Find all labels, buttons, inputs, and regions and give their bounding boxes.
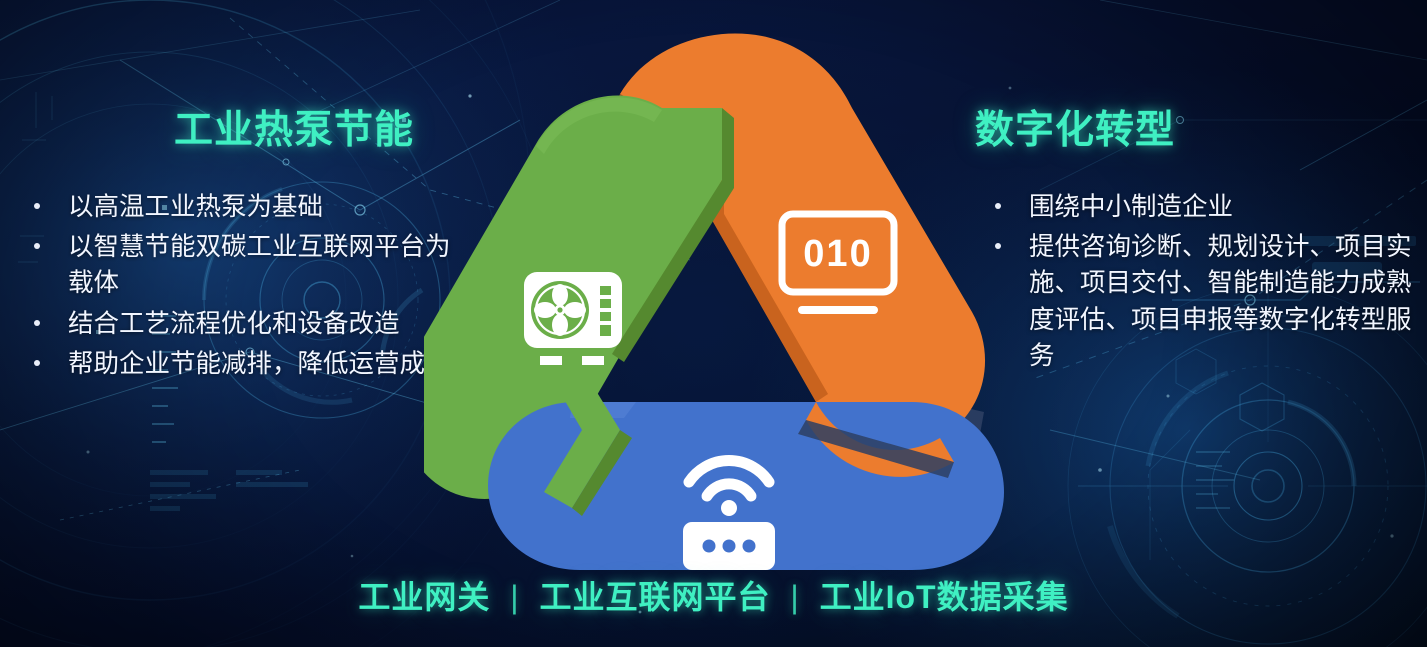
right-bullet-list: 围绕中小制造企业 提供咨询诊断、规划设计、项目实施、项目交付、智能制造能力成熟度…	[975, 189, 1427, 374]
bullet-dot-icon	[34, 243, 40, 249]
caption-separator: |	[500, 579, 529, 615]
triangle-cycle-diagram: 010	[424, 22, 1024, 570]
bullet-dot-icon	[34, 203, 40, 209]
list-item: 以高温工业热泵为基础	[14, 189, 454, 225]
right-content-column: 数字化转型 围绕中小制造企业 提供咨询诊断、规划设计、项目实施、项目交付、智能制…	[975, 110, 1427, 378]
right-column-title: 数字化转型	[975, 110, 1427, 153]
bullet-text: 以高温工业热泵为基础	[68, 193, 323, 221]
caption-part-iot: 工业IoT数据采集	[820, 579, 1069, 615]
bullet-text: 提供咨询诊断、规划设计、项目实施、项目交付、智能制造能力成熟度评估、项目申报等数…	[1029, 233, 1412, 370]
left-column-title: 工业热泵节能	[14, 110, 454, 153]
list-item: 帮助企业节能减排，降低运营成本	[14, 346, 454, 382]
bullet-dot-icon	[34, 320, 40, 326]
list-item: 提供咨询诊断、规划设计、项目实施、项目交付、智能制造能力成熟度评估、项目申报等数…	[975, 229, 1427, 374]
bullet-text: 帮助企业节能减排，降低运营成本	[68, 350, 451, 378]
list-item: 围绕中小制造企业	[975, 189, 1427, 225]
list-item: 以智慧节能双碳工业互联网平台为载体	[14, 229, 454, 301]
caption-part-platform: 工业互联网平台	[540, 579, 771, 615]
bullet-text: 以智慧节能双碳工业互联网平台为载体	[68, 233, 451, 297]
bullet-text: 结合工艺流程优化和设备改造	[68, 310, 400, 338]
bottom-caption: 工业网关 | 工业互联网平台 | 工业IoT数据采集	[0, 572, 1427, 618]
caption-separator: |	[780, 579, 809, 615]
monitor-binary-text: 010	[803, 233, 872, 275]
slide-root: 工业热泵节能 以高温工业热泵为基础 以智慧节能双碳工业互联网平台为载体 结合工艺…	[0, 0, 1427, 647]
list-item: 结合工艺流程优化和设备改造	[14, 306, 454, 342]
left-content-column: 工业热泵节能 以高温工业热泵为基础 以智慧节能双碳工业互联网平台为载体 结合工艺…	[14, 110, 454, 386]
left-bullet-list: 以高温工业热泵为基础 以智慧节能双碳工业互联网平台为载体 结合工艺流程优化和设备…	[14, 189, 454, 382]
bullet-dot-icon	[34, 360, 40, 366]
caption-part-gateway: 工业网关	[358, 579, 490, 615]
bullet-text: 围绕中小制造企业	[1029, 193, 1233, 221]
